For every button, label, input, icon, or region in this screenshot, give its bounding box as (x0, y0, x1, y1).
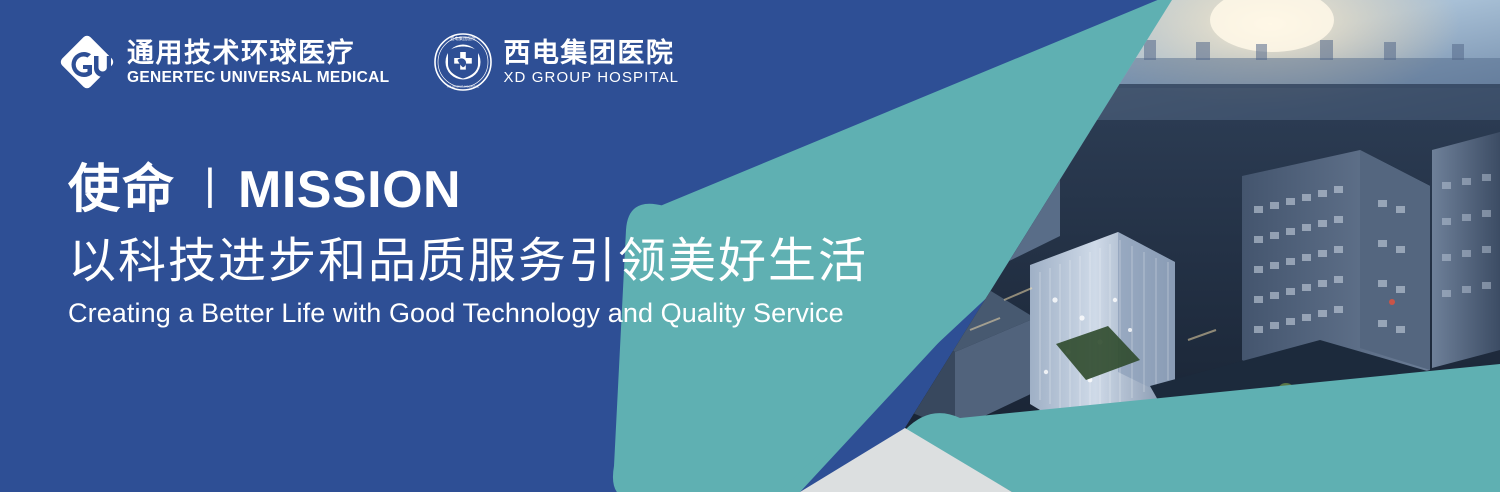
mission-heading: 使命 丨 MISSION (68, 160, 868, 220)
genertec-name-cn: 通用技术环球医疗 (127, 38, 389, 68)
mission-tagline-cn: 以科技进步和品质服务引领美好生活 (68, 234, 868, 290)
genertec-logo[interactable]: 通用技术环球医疗 GENERTEC UNIVERSAL MEDICAL (58, 33, 389, 91)
mission-title-en: MISSION (238, 160, 461, 220)
logo-divider (411, 36, 412, 88)
hospital-name-cn: 西电集团医院 (503, 38, 679, 68)
xd-group-hospital-emblem: 西电集团医院 XD GROUP HOSPITAL (434, 33, 492, 91)
hospital-logo-text: 西电集团医院 XD GROUP HOSPITAL (503, 38, 679, 86)
hospital-logo[interactable]: 西电集团医院 XD GROUP HOSPITAL 西电集团医院 XD GROUP… (434, 33, 679, 91)
genertec-gu-diamond-logo (58, 33, 116, 91)
logo-bar: 通用技术环球医疗 GENERTEC UNIVERSAL MEDICAL 西电集团… (58, 33, 679, 91)
mission-title-cn: 使命 (68, 160, 176, 220)
svg-text:XD GROUP HOSPITAL: XD GROUP HOSPITAL (447, 85, 480, 89)
genertec-name-en: GENERTEC UNIVERSAL MEDICAL (127, 69, 389, 86)
mission-tagline-en: Creating a Better Life with Good Technol… (68, 296, 868, 330)
mission-banner: 通用技术环球医疗 GENERTEC UNIVERSAL MEDICAL 西电集团… (0, 0, 1500, 492)
mission-separator: 丨 (176, 160, 238, 220)
svg-text:西电集团医院: 西电集团医院 (451, 35, 477, 42)
hospital-name-en: XD GROUP HOSPITAL (503, 69, 679, 86)
mission-copy-block: 使命 丨 MISSION 以科技进步和品质服务引领美好生活 Creating a… (68, 160, 868, 330)
genertec-logo-text: 通用技术环球医疗 GENERTEC UNIVERSAL MEDICAL (127, 38, 389, 86)
